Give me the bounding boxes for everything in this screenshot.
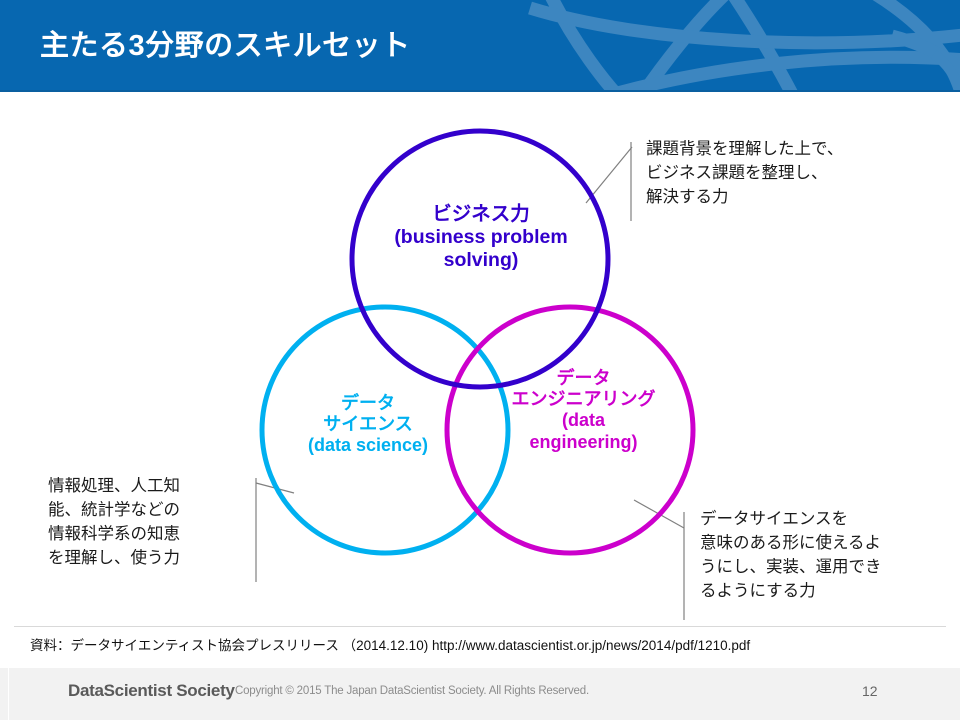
leader-line-bottom-right bbox=[634, 500, 684, 528]
slide-header: 主たる3分野のスキルセット bbox=[0, 0, 960, 92]
venn-label-data-science: データ サイエンス (data science) bbox=[278, 393, 458, 457]
leader-line-bottom-left bbox=[256, 483, 294, 493]
callout-data-science: 情報処理、人工知 能、統計学などの 情報科学系の知恵 を理解し、使う力 bbox=[48, 475, 248, 571]
callout-business: 課題背景を理解した上で、 ビジネス課題を整理し、 解決する力 bbox=[646, 138, 946, 210]
slide-canvas: 主たる3分野のスキルセット ビジネス力 (business problem so… bbox=[0, 0, 960, 720]
page-title: 主たる3分野のスキルセット bbox=[40, 26, 411, 66]
header-bottom-rule bbox=[0, 90, 960, 92]
source-citation: 資料：データサイエンティスト協会プレスリリース （2014.12.10) htt… bbox=[30, 634, 930, 654]
header-globe-decoration bbox=[520, 0, 960, 92]
callout-data-engineering: データサイエンスを 意味のある形に使えるよ うにし、実装、運用でき るようにする… bbox=[700, 508, 950, 604]
footer-copyright: Copyright © 2015 The Japan DataScientist… bbox=[235, 685, 589, 697]
leader-line-top-right bbox=[586, 147, 632, 203]
venn-label-business: ビジネス力 (business problem solving) bbox=[350, 203, 612, 272]
footer-left-edge bbox=[8, 668, 9, 720]
source-divider bbox=[14, 626, 946, 627]
page-number: 12 bbox=[862, 683, 878, 699]
venn-diagram bbox=[0, 0, 960, 720]
venn-label-data-engineering: データ エンジニアリング (data engineering) bbox=[476, 368, 691, 453]
footer-logo: DataScientist Society bbox=[68, 681, 235, 701]
